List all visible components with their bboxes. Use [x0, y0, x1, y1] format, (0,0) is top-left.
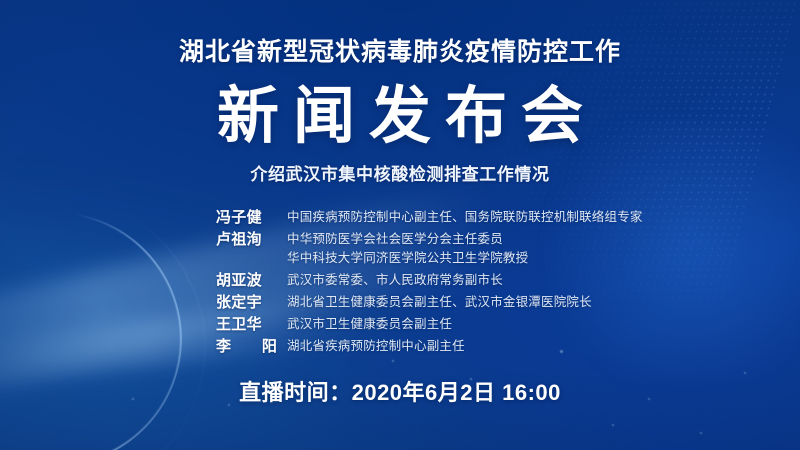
speaker-title-line: 中国疾病预防控制中心副主任、国务院联防联控机制联络组专家 — [287, 208, 780, 227]
speaker-titles: 湖北省疾病预防控制中心副主任 — [278, 337, 780, 356]
speaker-title-line: 武汉市卫生健康委员会副主任 — [287, 315, 780, 334]
poster-headline: 新闻发布会 — [0, 84, 800, 151]
speaker-title-line: 武汉市委常委、市人民政府常务副市长 — [287, 271, 780, 290]
speaker-titles: 中华预防医学会社会医学分会主任委员 华中科技大学同济医学院公共卫生学院教授 — [278, 230, 780, 268]
speaker-name: 冯子健 — [216, 208, 278, 227]
speaker-titles: 湖北省卫生健康委员会副主任、武汉市金银潭医院院长 — [278, 293, 780, 312]
speaker-name: 张定宇 — [216, 293, 278, 312]
poster-kicker: 湖北省新型冠状病毒肺炎疫情防控工作 — [0, 40, 800, 65]
speaker-title-line: 湖北省疾病预防控制中心副主任 — [287, 337, 780, 356]
speaker-list: 冯子健 中国疾病预防控制中心副主任、国务院联防联控机制联络组专家 卢祖洵 中华预… — [216, 208, 780, 359]
speaker-title-line: 华中科技大学同济医学院公共卫生学院教授 — [287, 249, 780, 268]
speaker-row: 王卫华 武汉市卫生健康委员会副主任 — [216, 315, 780, 334]
press-conference-poster: 湖北省新型冠状病毒肺炎疫情防控工作 新闻发布会 介绍武汉市集中核酸检测排查工作情… — [0, 0, 800, 450]
speaker-name: 李 阳 — [216, 337, 278, 356]
speaker-name: 王卫华 — [216, 315, 278, 334]
speaker-row: 冯子健 中国疾病预防控制中心副主任、国务院联防联控机制联络组专家 — [216, 208, 780, 227]
speaker-titles: 武汉市卫生健康委员会副主任 — [278, 315, 780, 334]
speaker-titles: 中国疾病预防控制中心副主任、国务院联防联控机制联络组专家 — [278, 208, 780, 227]
broadcast-time: 直播时间：2020年6月2日 16:00 — [0, 382, 800, 404]
speaker-row: 卢祖洵 中华预防医学会社会医学分会主任委员 华中科技大学同济医学院公共卫生学院教… — [216, 230, 780, 268]
speaker-row: 胡亚波 武汉市委常委、市人民政府常务副市长 — [216, 271, 780, 290]
speaker-title-line: 湖北省卫生健康委员会副主任、武汉市金银潭医院院长 — [287, 293, 780, 312]
speaker-row: 张定宇 湖北省卫生健康委员会副主任、武汉市金银潭医院院长 — [216, 293, 780, 312]
poster-subtitle: 介绍武汉市集中核酸检测排查工作情况 — [0, 166, 800, 183]
speaker-name: 卢祖洵 — [216, 230, 278, 249]
speaker-title-line: 中华预防医学会社会医学分会主任委员 — [287, 230, 780, 249]
speaker-name: 胡亚波 — [216, 271, 278, 290]
poster-content: 湖北省新型冠状病毒肺炎疫情防控工作 新闻发布会 介绍武汉市集中核酸检测排查工作情… — [0, 0, 800, 450]
speaker-row: 李 阳 湖北省疾病预防控制中心副主任 — [216, 337, 780, 356]
speaker-titles: 武汉市委常委、市人民政府常务副市长 — [278, 271, 780, 290]
